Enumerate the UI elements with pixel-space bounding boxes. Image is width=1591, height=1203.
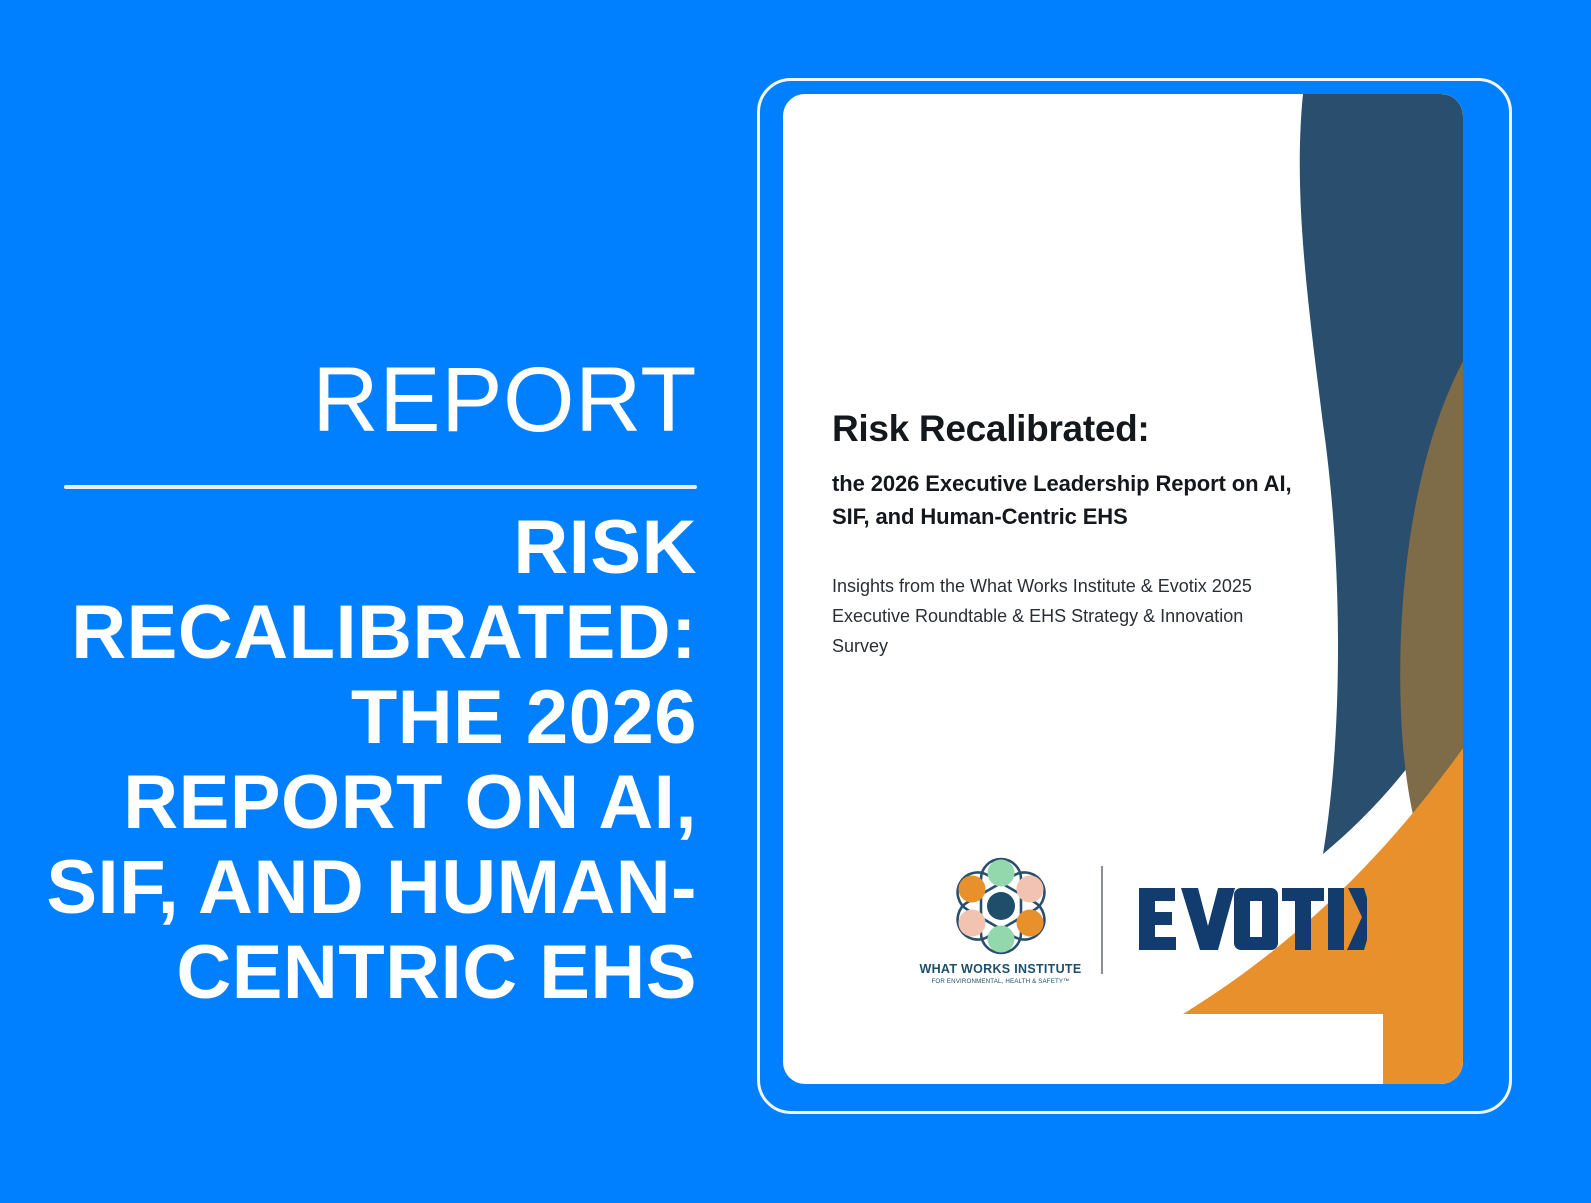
wwi-name-label: WHAT WORKS INSTITUTE [920, 962, 1082, 976]
logo-lockup: WHAT WORKS INSTITUTE FOR ENVIRONMENTAL, … [918, 854, 1367, 985]
what-works-institute-logo: WHAT WORKS INSTITUTE FOR ENVIRONMENTAL, … [918, 854, 1083, 985]
left-text-panel: REPORT RISK RECALIBRATED: THE 2026 REPOR… [0, 0, 720, 1203]
cover-subtitle: the 2026 Executive Leadership Report on … [832, 467, 1310, 533]
wwi-tagline-label: FOR ENVIRONMENTAL, HEALTH & SAFETY™ [931, 978, 1069, 985]
page-title: RISK RECALIBRATED: THE 2026 REPORT ON AI… [20, 505, 697, 1015]
cover-title: Risk Recalibrated: [832, 406, 1312, 451]
report-cover-card[interactable]: Risk Recalibrated: the 2026 Executive Le… [783, 94, 1463, 1084]
cover-blurb: Insights from the What Works Institute &… [832, 571, 1287, 661]
atom-icon [940, 854, 1062, 959]
title-divider [64, 485, 697, 489]
report-eyebrow-label: REPORT [64, 352, 697, 448]
evotix-logo [1137, 878, 1367, 962]
promo-canvas: REPORT RISK RECALIBRATED: THE 2026 REPOR… [0, 0, 1591, 1203]
cover-copy-block: Risk Recalibrated: the 2026 Executive Le… [832, 406, 1312, 661]
logo-separator [1101, 866, 1103, 974]
